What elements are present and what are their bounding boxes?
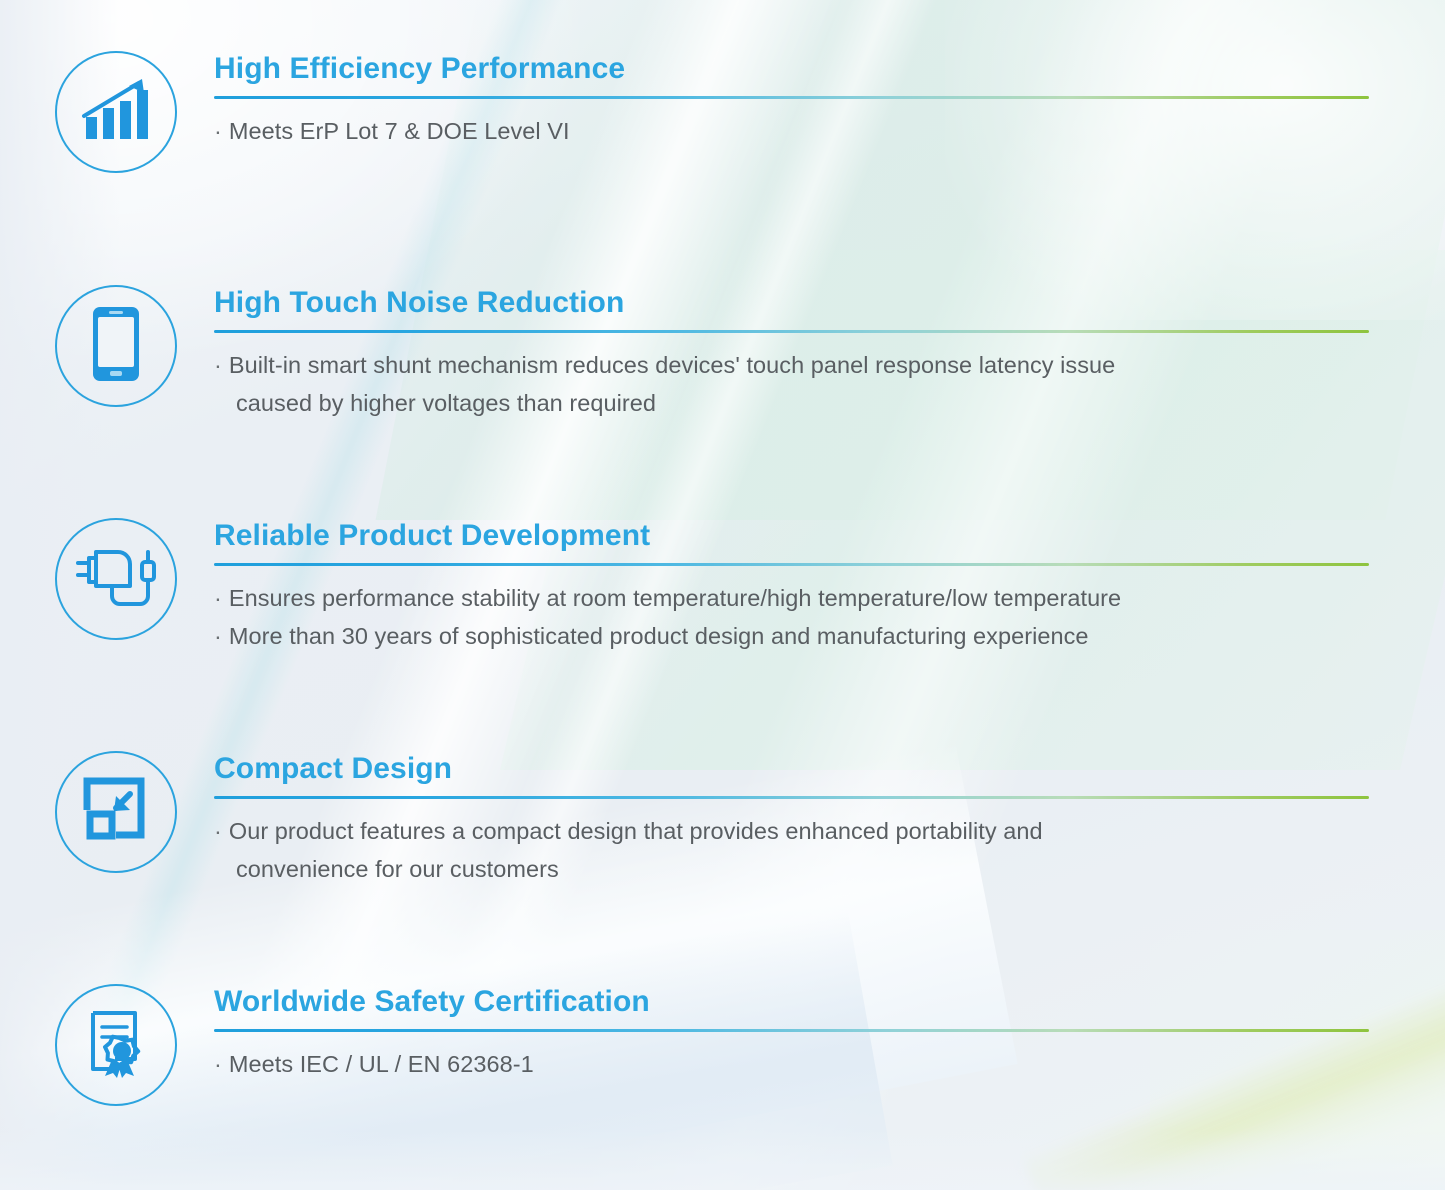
feature-divider: [214, 330, 1369, 333]
feature-body: Reliable Product Development ·Ensures pe…: [214, 518, 1369, 655]
feature-item-compact-design: Compact Design ·Our product features a c…: [55, 751, 1369, 888]
feature-body: Worldwide Safety Certification ·Meets IE…: [214, 984, 1369, 1083]
feature-body: High Efficiency Performance ·Meets ErP L…: [214, 51, 1369, 150]
feature-item-worldwide-safety-certification: Worldwide Safety Certification ·Meets IE…: [55, 984, 1369, 1106]
smartphone-icon: [92, 306, 140, 387]
feature-divider: [214, 1029, 1369, 1032]
icon-circle: [55, 51, 177, 173]
feature-divider: [214, 96, 1369, 99]
feature-body: Compact Design ·Our product features a c…: [214, 751, 1369, 888]
bullet-text-continuation: caused by higher voltages than required: [214, 384, 1369, 422]
icon-circle: [55, 518, 177, 640]
bullet-marker: ·: [214, 352, 222, 378]
compact-resize-icon: [83, 777, 149, 848]
certificate-award-icon: [81, 1007, 151, 1084]
feature-title: Worldwide Safety Certification: [214, 985, 1369, 1020]
feature-item-reliable-product-development: Reliable Product Development ·Ensures pe…: [55, 518, 1369, 655]
feature-bullets: ·Ensures performance stability at room t…: [214, 579, 1369, 655]
feature-title: High Efficiency Performance: [214, 52, 1369, 87]
feature-title: Reliable Product Development: [214, 519, 1369, 554]
bullet-marker: ·: [214, 818, 222, 844]
feature-divider: [214, 796, 1369, 799]
bullet-marker: ·: [214, 1051, 222, 1077]
bullet-line: ·More than 30 years of sophisticated pro…: [214, 617, 1369, 655]
bullet-line: ·Meets IEC / UL / EN 62368-1: [214, 1045, 1369, 1083]
feature-body: High Touch Noise Reduction ·Built-in sma…: [214, 285, 1369, 422]
icon-circle: [55, 751, 177, 873]
bullet-marker: ·: [214, 585, 222, 611]
feature-item-high-efficiency-performance: High Efficiency Performance ·Meets ErP L…: [55, 51, 1369, 173]
icon-circle: [55, 285, 177, 407]
bullet-marker: ·: [214, 118, 222, 144]
bullet-text: More than 30 years of sophisticated prod…: [229, 623, 1089, 649]
bullet-text: Our product features a compact design th…: [229, 818, 1043, 844]
bullet-line: ·Ensures performance stability at room t…: [214, 579, 1369, 617]
icon-circle: [55, 984, 177, 1106]
bullet-line: ·Meets ErP Lot 7 & DOE Level VI: [214, 112, 1369, 150]
feature-title: High Touch Noise Reduction: [214, 286, 1369, 321]
feature-bullets: ·Built-in smart shunt mechanism reduces …: [214, 346, 1369, 422]
feature-bullets: ·Meets ErP Lot 7 & DOE Level VI: [214, 112, 1369, 150]
bullet-text: Meets ErP Lot 7 & DOE Level VI: [229, 118, 570, 144]
bar-chart-growth-icon: [80, 77, 152, 148]
feature-list: High Efficiency Performance ·Meets ErP L…: [0, 0, 1445, 1190]
feature-bullets: ·Meets IEC / UL / EN 62368-1: [214, 1045, 1369, 1083]
bullet-line: ·Built-in smart shunt mechanism reduces …: [214, 346, 1369, 422]
feature-item-high-touch-noise-reduction: High Touch Noise Reduction ·Built-in sma…: [55, 285, 1369, 422]
bullet-text: Ensures performance stability at room te…: [229, 585, 1121, 611]
feature-divider: [214, 563, 1369, 566]
bullet-text: Built-in smart shunt mechanism reduces d…: [229, 352, 1115, 378]
bullet-marker: ·: [214, 623, 222, 649]
power-adapter-icon: [74, 542, 158, 617]
feature-title: Compact Design: [214, 752, 1369, 787]
feature-bullets: ·Our product features a compact design t…: [214, 812, 1369, 888]
bullet-line: ·Our product features a compact design t…: [214, 812, 1369, 888]
bullet-text: Meets IEC / UL / EN 62368-1: [229, 1051, 534, 1077]
bullet-text-continuation: convenience for our customers: [214, 850, 1369, 888]
